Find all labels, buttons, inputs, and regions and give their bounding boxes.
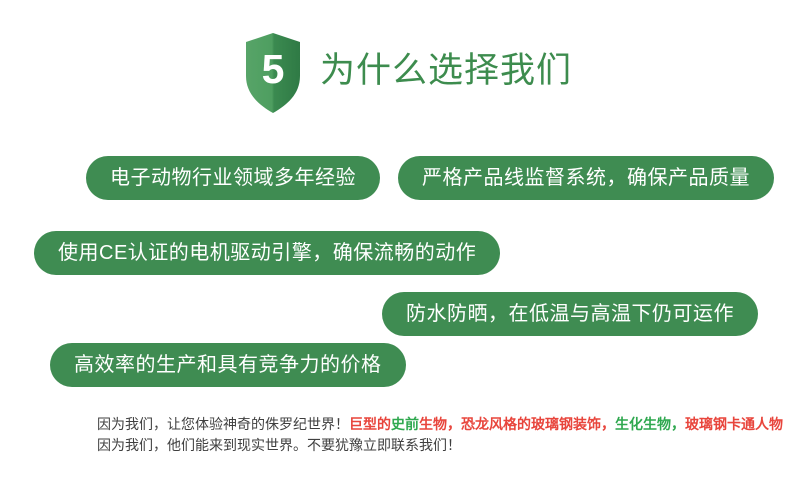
promo-banner: 5 为什么选择我们 电子动物行业领域多年经验 严格产品线监督系统，确保产品质量 … [0,0,800,485]
page-title: 为什么选择我们 [320,53,572,94]
shield-icon: 5 [240,32,306,114]
footer-text-run-7: 玻璃钢卡通人物 [685,416,783,432]
page-header: 5 为什么选择我们 [240,28,572,118]
footer-text-run-1: 因为我们，让您体验神奇的侏罗纪世界！ [97,416,349,432]
footer-text-run-4: 生物， [419,416,461,432]
feature-pill-2[interactable]: 严格产品线监督系统，确保产品质量 [398,156,774,200]
footer-copy: 因为我们，让您体验神奇的侏罗纪世界！巨型的史前生物，恐龙风格的玻璃钢装饰，生化生… [97,414,800,456]
footer-text-run-2: 巨型的 [349,416,391,432]
footer-text-run-1: 因为我们，他们能来到现实世界。不要犹豫立即联系我们！ [97,437,461,453]
badge-number: 5 [240,32,306,114]
footer-text-run-6: 生化生物， [615,416,685,432]
footer-text-run-5: 恐龙风格的玻璃钢装饰， [461,416,615,432]
footer-line-2: 因为我们，他们能来到现实世界。不要犹豫立即联系我们！ [97,435,800,456]
feature-pill-3[interactable]: 使用CE认证的电机驱动引擎，确保流畅的动作 [34,231,500,275]
feature-pill-5[interactable]: 高效率的生产和具有竞争力的价格 [50,343,406,387]
feature-pill-1[interactable]: 电子动物行业领域多年经验 [86,156,380,200]
footer-line-1: 因为我们，让您体验神奇的侏罗纪世界！巨型的史前生物，恐龙风格的玻璃钢装饰，生化生… [97,414,800,435]
footer-text-run-3: 史前 [391,416,419,432]
feature-pill-4[interactable]: 防水防晒，在低温与高温下仍可运作 [382,292,758,336]
